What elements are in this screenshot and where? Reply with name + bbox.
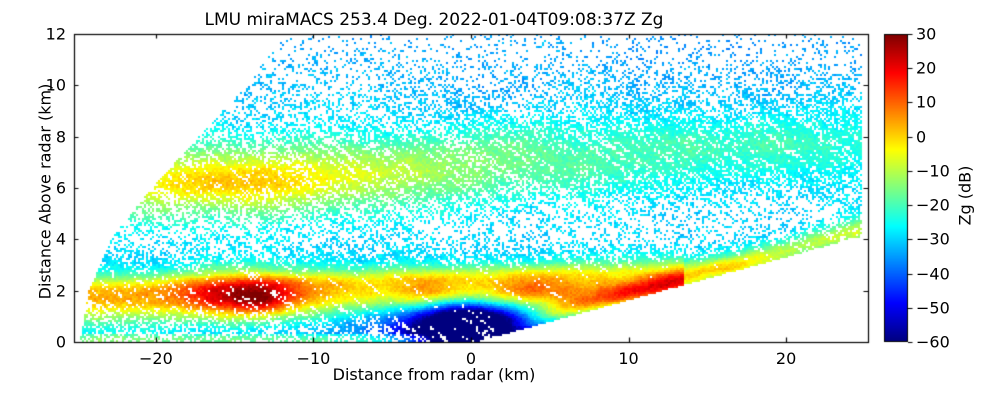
y-tick-label: 4 xyxy=(26,230,66,249)
colorbar-tick-label: −60 xyxy=(916,333,950,352)
colorbar-tick-label: −20 xyxy=(916,196,950,215)
y-tick-label: 8 xyxy=(26,127,66,146)
x-tick-label: 0 xyxy=(466,349,476,368)
colorbar-tick-label: 0 xyxy=(916,127,926,146)
page-title: LMU miraMACS 253.4 Deg. 2022-01-04T09:08… xyxy=(0,10,868,30)
x-tick-label: −20 xyxy=(139,349,173,368)
y-tick-label: 10 xyxy=(26,76,66,95)
x-tick-label: 20 xyxy=(776,349,796,368)
colorbar-tick-label: −10 xyxy=(916,161,950,180)
colorbar-tick-label: −40 xyxy=(916,264,950,283)
colorbar-tick-label: 10 xyxy=(916,93,936,112)
y-tick-label: 0 xyxy=(26,333,66,352)
y-tick-label: 12 xyxy=(26,25,66,44)
radar-heatmap-canvas xyxy=(0,0,1000,400)
y-tick-label: 6 xyxy=(26,179,66,198)
x-axis-label: Distance from radar (km) xyxy=(0,365,868,384)
colorbar-tick-label: 20 xyxy=(916,59,936,78)
colorbar-tick-label: −30 xyxy=(916,230,950,249)
radar-cross-section-figure: LMU miraMACS 253.4 Deg. 2022-01-04T09:08… xyxy=(0,0,1000,400)
colorbar-tick-label: 30 xyxy=(916,25,936,44)
colorbar-tick-label: −50 xyxy=(916,298,950,317)
y-tick-label: 2 xyxy=(26,281,66,300)
colorbar-label: Zg (dB) xyxy=(956,86,975,306)
x-tick-label: −10 xyxy=(297,349,331,368)
x-tick-label: 10 xyxy=(618,349,638,368)
